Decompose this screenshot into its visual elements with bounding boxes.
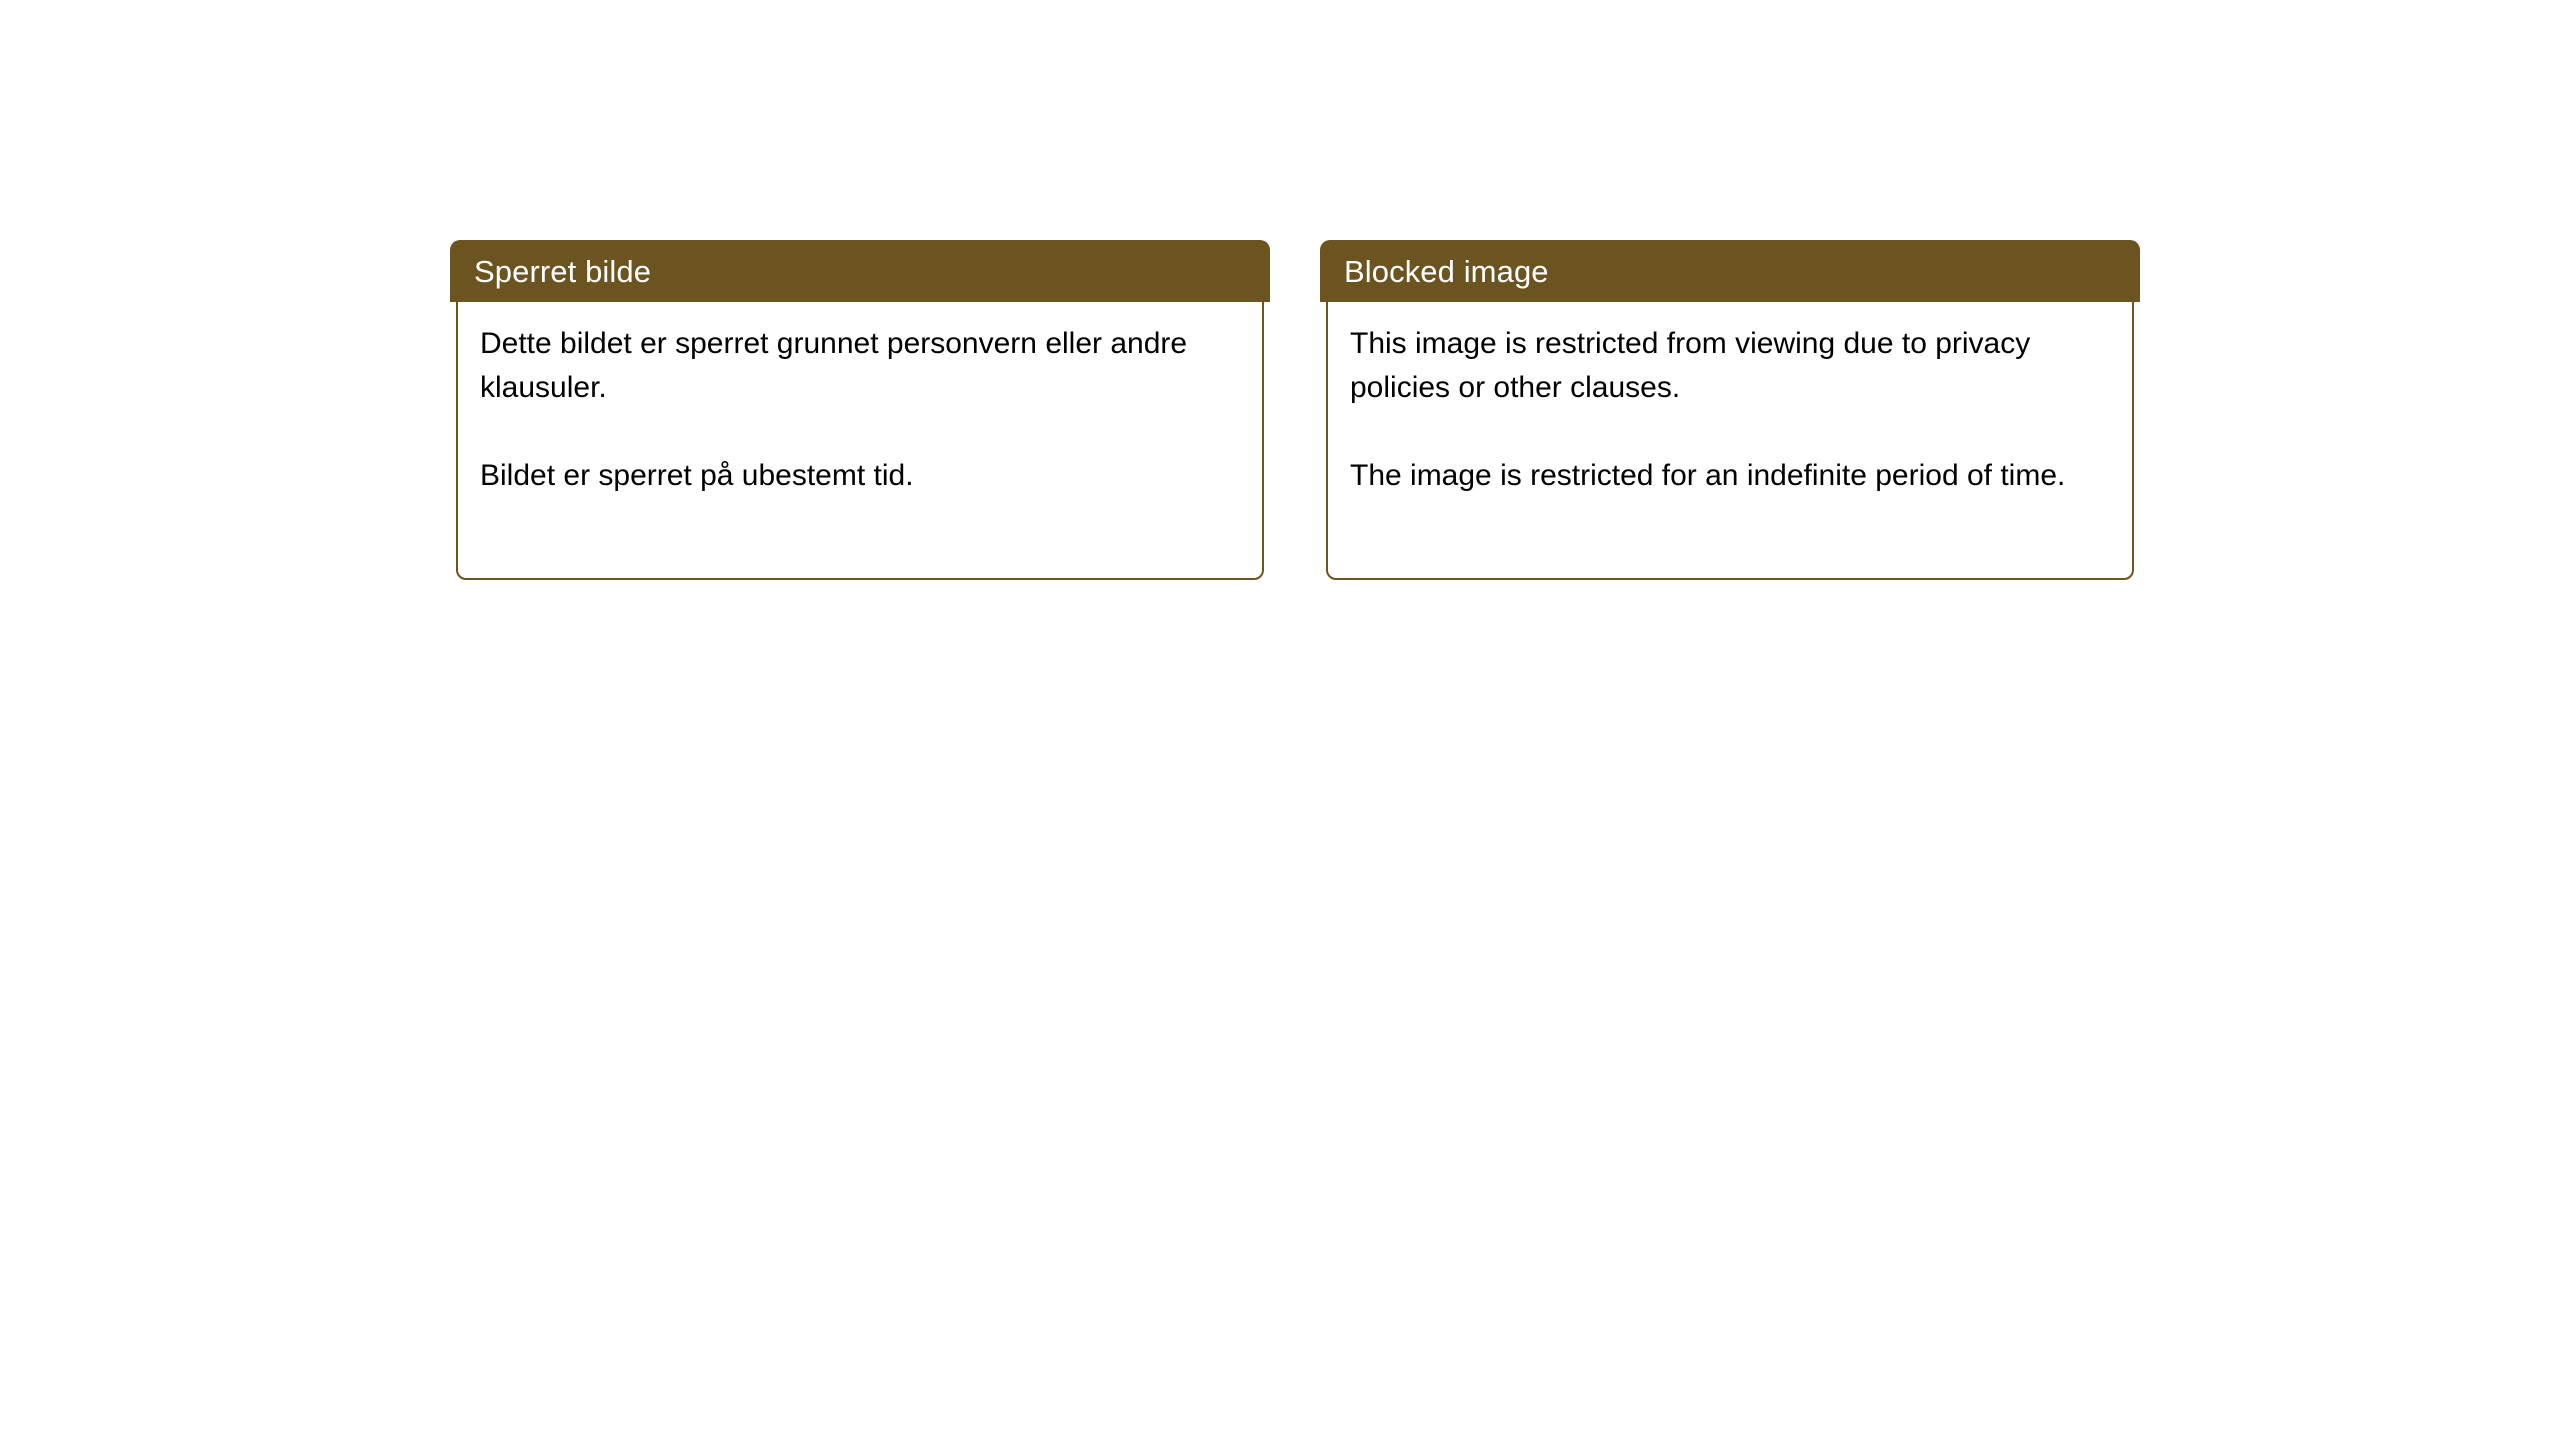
card-paragraph-duration-norwegian: Bildet er sperret på ubestemt tid.: [480, 454, 1244, 498]
blocked-image-card-norwegian: Sperret bilde Dette bildet er sperret gr…: [450, 240, 1270, 580]
card-paragraph-reason-english: This image is restricted from viewing du…: [1350, 322, 2114, 410]
card-header-norwegian: Sperret bilde: [450, 240, 1270, 302]
card-paragraph-duration-english: The image is restricted for an indefinit…: [1350, 454, 2114, 498]
card-body-english: This image is restricted from viewing du…: [1326, 298, 2134, 580]
card-body-norwegian: Dette bildet er sperret grunnet personve…: [456, 298, 1264, 580]
card-header-english: Blocked image: [1320, 240, 2140, 302]
card-body-inner-norwegian: Dette bildet er sperret grunnet personve…: [458, 300, 1262, 498]
card-body-inner-english: This image is restricted from viewing du…: [1328, 300, 2132, 498]
blocked-image-card-english: Blocked image This image is restricted f…: [1320, 240, 2140, 580]
card-paragraph-reason-norwegian: Dette bildet er sperret grunnet personve…: [480, 322, 1244, 410]
card-title-norwegian: Sperret bilde: [450, 256, 651, 287]
card-title-english: Blocked image: [1320, 256, 1549, 287]
blocked-image-notice-area: Sperret bilde Dette bildet er sperret gr…: [0, 0, 2560, 1440]
